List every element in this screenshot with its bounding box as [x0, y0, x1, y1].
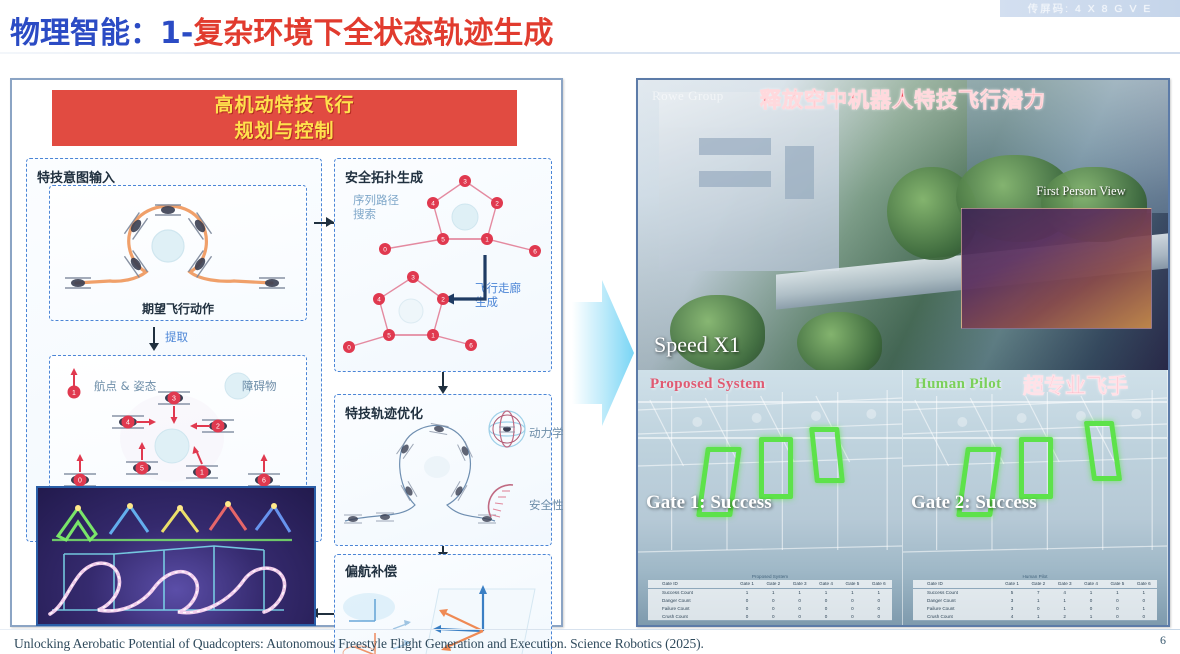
svg-text:6: 6 [533, 248, 537, 255]
trajectory-visualization [36, 486, 316, 626]
table-cell: 1 [787, 588, 813, 596]
human-pilot-label-cn: 超专业飞手 [1023, 370, 1128, 400]
results-table-proposed: Proposed System Gate IDGate 1Gate 2Gate … [648, 572, 892, 621]
svg-text:0: 0 [78, 478, 82, 485]
comparison-videos: Proposed System Gate 1: Success Proposed… [638, 370, 1168, 627]
waypoint-legend-icon: 1 [68, 368, 81, 399]
table-cell: 0 [813, 612, 839, 620]
svg-text:3: 3 [172, 396, 176, 403]
table-row: Danger Count000000 [648, 597, 892, 605]
table-col-header: Gate 3 [1052, 580, 1078, 588]
yaw-to-viz-line [318, 613, 334, 615]
svg-text:2: 2 [441, 296, 445, 303]
footer-divider [0, 629, 1180, 630]
extract-label: 提取 [165, 329, 188, 345]
table-cell: 4 [1052, 588, 1078, 596]
desired-maneuver-illustration [50, 186, 308, 302]
table-row: Success Count111111 [648, 588, 892, 596]
page-title-prefix: 物理智能：1- [10, 16, 193, 51]
banner-line-2: 规划与控制 [234, 118, 334, 144]
flow-arrow-to-demo [572, 278, 634, 428]
table-cell: 2 [1052, 612, 1078, 620]
trajectory-optimization-illustration [335, 395, 553, 547]
topology-to-opt-head-icon [438, 386, 448, 394]
table-col-header: Gate 1 [734, 580, 760, 588]
obstacle-legend-label: 障碍物 [242, 378, 277, 394]
gate-status-right: Gate 2: Success [911, 492, 1037, 514]
table-cell: 1 [1025, 597, 1051, 605]
table-cell: 1 [1131, 604, 1157, 612]
table-row-label: Failure Count [648, 604, 734, 612]
table-cell: 3 [999, 604, 1025, 612]
page-number: 6 [1160, 633, 1166, 648]
table-col-header: Gate 4 [813, 580, 839, 588]
table-cell: 0 [866, 604, 892, 612]
table-header-row: Gate IDGate 1Gate 2Gate 3Gate 4Gate 5Gat… [913, 580, 1157, 588]
svg-text:4: 4 [377, 296, 381, 303]
table-cell: 1 [813, 588, 839, 596]
table-cell: 1 [734, 588, 760, 596]
svg-text:2: 2 [495, 200, 499, 207]
table-body: Success Count111111Danger Count000000Fai… [648, 588, 892, 620]
proposed-system-video: Proposed System Gate 1: Success Proposed… [638, 370, 903, 627]
safety-icon [489, 485, 513, 517]
page-title-main: 复杂环境下全状态轨迹生成 [193, 16, 553, 51]
table-col-header: Gate 5 [839, 580, 865, 588]
table-cell: 0 [1078, 604, 1104, 612]
table-cell: 1 [760, 588, 786, 596]
building-facade [659, 92, 839, 272]
table-row: Failure Count301001 [913, 604, 1157, 612]
svg-text:4: 4 [126, 420, 130, 427]
race-gate-icon [759, 437, 793, 499]
table-cell: 0 [1104, 597, 1130, 605]
desired-maneuver-box: 期望飞行动作 [49, 185, 307, 321]
table-cell: 1 [866, 588, 892, 596]
table-cell: 1 [1078, 612, 1104, 620]
table-cell: 0 [760, 604, 786, 612]
table-cell: 1 [1104, 588, 1130, 596]
table-col-header: Gate 3 [787, 580, 813, 588]
table-cell: 0 [1078, 597, 1104, 605]
table-cell: 1 [1078, 588, 1104, 596]
desired-maneuver-caption: 期望飞行动作 [50, 300, 306, 317]
svg-text:4: 4 [431, 200, 435, 207]
trajectory-visualization-illustration [38, 488, 314, 624]
proposed-system-label: Proposed System [650, 376, 765, 393]
table-cell: 0 [734, 604, 760, 612]
banner-line-1: 高机动特技飞行 [214, 92, 354, 118]
safe-topology-box: 安全拓扑生成 序列路径 搜索 飞行走廊 生成 3 2 1 5 4 0 6 [334, 158, 552, 372]
table-row-label: Crush Count [913, 612, 999, 620]
table-col-header: Gate ID [648, 580, 734, 588]
table-row-label: Crush Count [648, 612, 734, 620]
table-cell: 0 [760, 612, 786, 620]
table-cell: 0 [866, 612, 892, 620]
svg-text:6: 6 [469, 342, 473, 349]
table-col-header: Gate 6 [1131, 580, 1157, 588]
a-to-b-arrow-head-icon [326, 217, 334, 227]
table-row: Crush Count000000 [648, 612, 892, 620]
table-cell: 0 [839, 612, 865, 620]
title-divider [0, 52, 1180, 54]
gate-status-left: Gate 1: Success [646, 492, 772, 514]
table-col-header: Gate 5 [1104, 580, 1130, 588]
fpv-inset-video [961, 208, 1152, 330]
fpv-label: First Person View [1036, 184, 1125, 199]
table-cell: 0 [813, 597, 839, 605]
playback-speed-label: Speed X1 [654, 332, 740, 358]
page-title: 物理智能：1-复杂环境下全状态轨迹生成 [10, 8, 553, 52]
human-pilot-video: Human Pilot 超专业飞手 Gate 2: Success Human … [903, 370, 1168, 627]
table-cell: 0 [787, 604, 813, 612]
trajectory-optimization-box: 特技轨迹优化 [334, 394, 552, 546]
table-cell: 0 [787, 597, 813, 605]
svg-text:5: 5 [140, 466, 144, 473]
table-body: Success Count574111Danger Count311000Fai… [913, 588, 1157, 620]
results-table-human: Human Pilot Gate IDGate 1Gate 2Gate 3Gat… [913, 572, 1157, 621]
left-diagram-panel: 高机动特技飞行 规划与控制 特技意图输入 [10, 78, 563, 627]
demo-video-main: First Person View Rowe Group 释放空中机器人特技飞行… [638, 80, 1168, 370]
table-cell: 0 [787, 612, 813, 620]
table-cell: 0 [1104, 604, 1130, 612]
table-header-row: Gate IDGate 1Gate 2Gate 3Gate 4Gate 5Gat… [648, 580, 892, 588]
table-row-label: Failure Count [913, 604, 999, 612]
table-row-label: Success Count [648, 588, 734, 596]
results-table-caption: Proposed System [648, 572, 892, 580]
table-cell: 1 [1052, 604, 1078, 612]
table-cell: 0 [1131, 597, 1157, 605]
extract-arrow-head-icon [149, 343, 159, 351]
table-col-header: Gate 2 [760, 580, 786, 588]
right-arrow-icon [572, 278, 634, 428]
svg-text:3: 3 [411, 274, 415, 281]
table-col-header: Gate 6 [866, 580, 892, 588]
table-col-header: Gate 1 [999, 580, 1025, 588]
table-col-header: Gate 4 [1078, 580, 1104, 588]
safety-label: 安全性 [529, 497, 564, 513]
table-cell: 0 [734, 597, 760, 605]
table-cell: 0 [839, 597, 865, 605]
table-cell: 5 [999, 588, 1025, 596]
svg-text:5: 5 [441, 236, 445, 243]
svg-text:6: 6 [262, 478, 266, 485]
table-cell: 0 [813, 604, 839, 612]
table-cell: 0 [839, 604, 865, 612]
svg-text:0: 0 [347, 344, 351, 351]
table-col-header: Gate ID [913, 580, 999, 588]
table-cell: 1 [1025, 612, 1051, 620]
video-watermark: Rowe Group [652, 88, 724, 104]
citation-text: Unlocking Aerobatic Potential of Quadcop… [14, 636, 704, 652]
table-cell: 0 [734, 612, 760, 620]
svg-text:2: 2 [216, 424, 220, 431]
table-cell: 1 [1052, 597, 1078, 605]
screen-share-code: 传屏码: 4 X 8 G V E [1000, 0, 1180, 17]
svg-text:3: 3 [463, 178, 467, 185]
table-cell: 0 [760, 597, 786, 605]
table-cell: 0 [866, 597, 892, 605]
table-cell: 0 [1025, 604, 1051, 612]
table-cell: 0 [1104, 612, 1130, 620]
waypoint-legend-label: 航点 & 姿态 [94, 378, 156, 394]
race-gate-icon [1019, 437, 1053, 499]
table-row: Success Count574111 [913, 588, 1157, 596]
table-row: Danger Count311000 [913, 597, 1157, 605]
stunt-intent-input-box: 特技意图输入 [26, 158, 322, 542]
svg-text:1: 1 [431, 332, 435, 339]
table-cell: 4 [999, 612, 1025, 620]
table-row: Crush Count412100 [913, 612, 1157, 620]
table-row-label: Danger Count [913, 597, 999, 605]
table-row: Failure Count000000 [648, 604, 892, 612]
dynamics-icon [488, 410, 527, 449]
table-row-label: Danger Count [648, 597, 734, 605]
table-cell: 3 [999, 597, 1025, 605]
race-gate-icon [809, 427, 845, 483]
dynamics-label: 动力学 [529, 425, 564, 441]
method-banner: 高机动特技飞行 规划与控制 [52, 90, 517, 146]
table-cell: 1 [1131, 588, 1157, 596]
topology-graph-illustration: 3 2 1 5 4 0 6 3 2 [335, 159, 553, 373]
video-overlay-title: 释放空中机器人特技飞行潜力 [760, 84, 1046, 114]
tree-cluster [797, 312, 882, 376]
table-row-label: Success Count [913, 588, 999, 596]
results-table-caption: Human Pilot [913, 572, 1157, 580]
stunt-intent-input-heading: 特技意图输入 [37, 167, 115, 186]
svg-text:1: 1 [485, 236, 489, 243]
svg-text:0: 0 [383, 246, 387, 253]
svg-text:5: 5 [387, 332, 391, 339]
slide-root: 传屏码: 4 X 8 G V E 物理智能：1-复杂环境下全状态轨迹生成 高机动… [0, 0, 1180, 654]
table-cell: 0 [1131, 612, 1157, 620]
svg-text:1: 1 [72, 390, 76, 397]
table-cell: 7 [1025, 588, 1051, 596]
human-pilot-label: Human Pilot [915, 376, 1002, 393]
demo-video-panel: First Person View Rowe Group 释放空中机器人特技飞行… [636, 78, 1170, 627]
table-col-header: Gate 2 [1025, 580, 1051, 588]
svg-text:1: 1 [200, 470, 204, 477]
table-cell: 1 [839, 588, 865, 596]
